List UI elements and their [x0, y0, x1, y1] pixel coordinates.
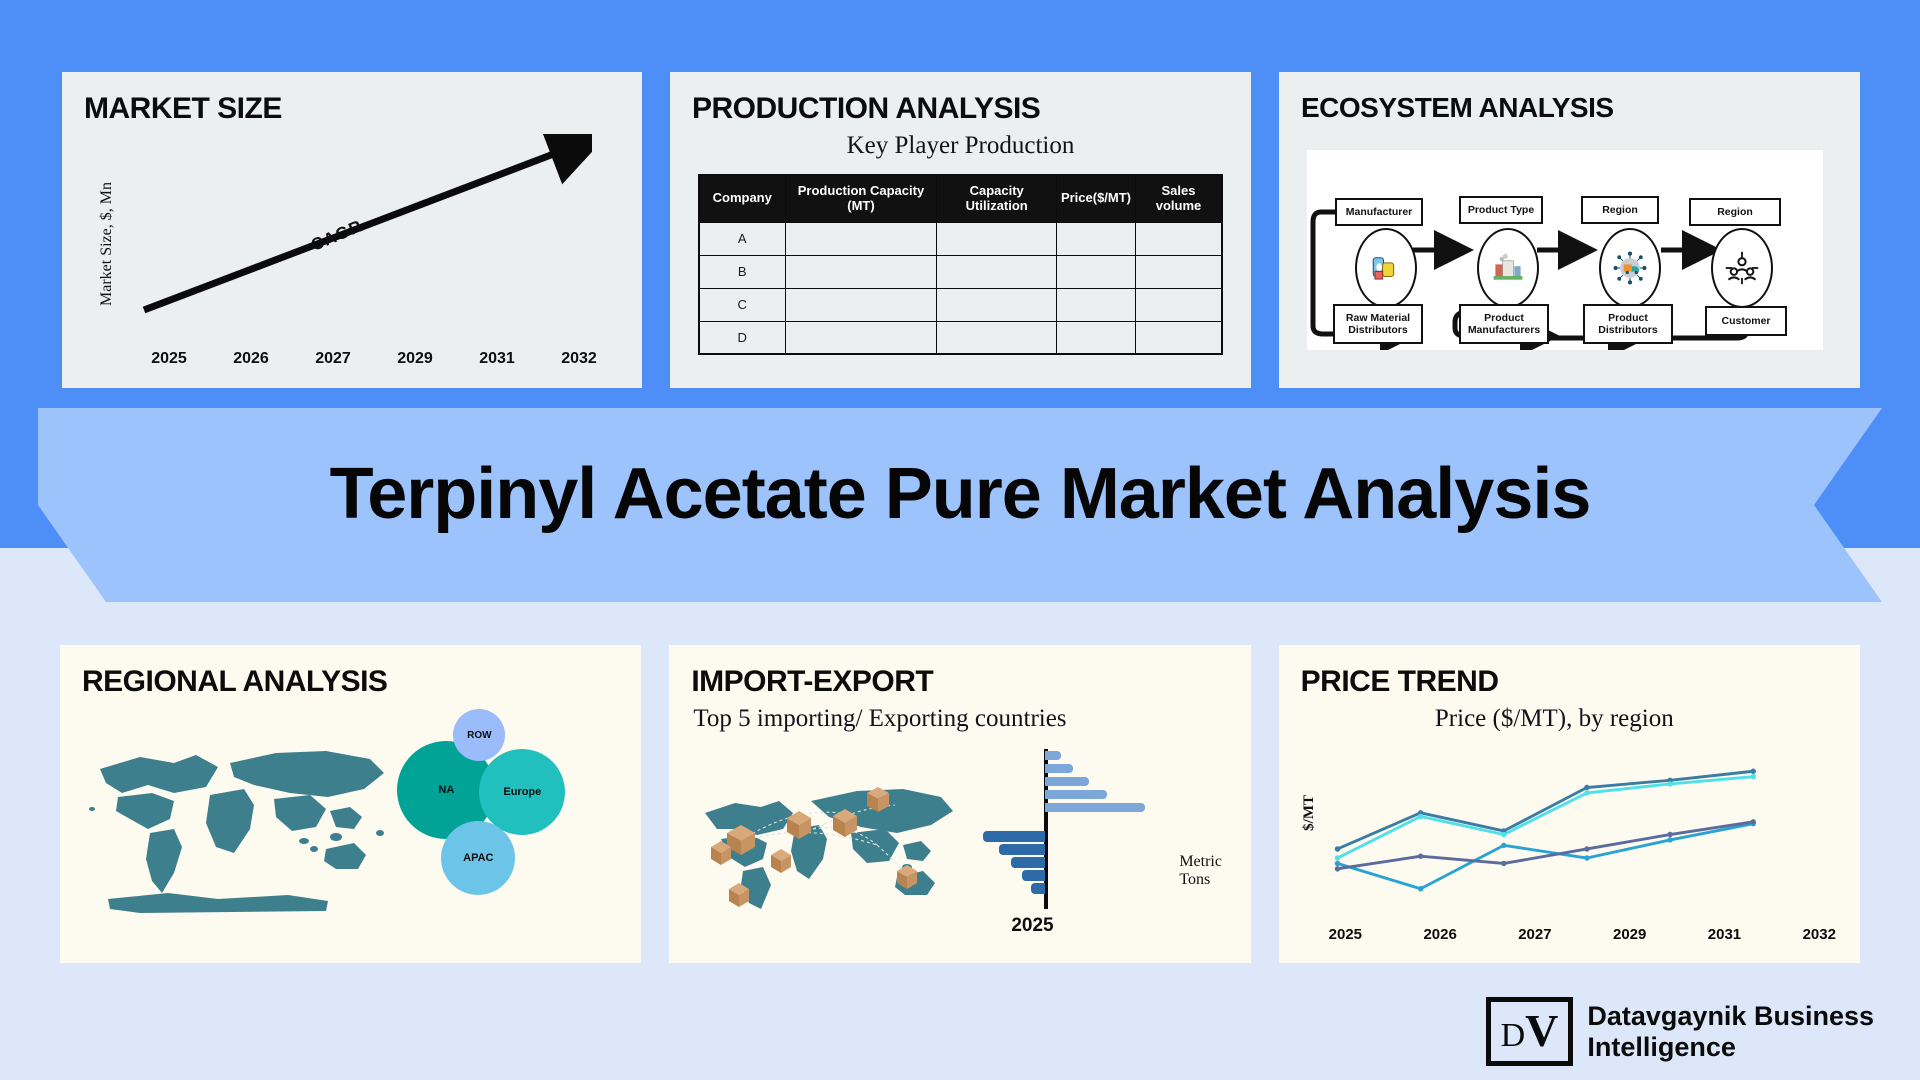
price-trend-lines	[1323, 755, 1793, 905]
x-tick: 2026	[216, 350, 286, 368]
column-header-production-capacity: Production Capacity (MT)	[785, 175, 937, 222]
x-tick: 2025	[1329, 926, 1362, 943]
bubble-row: ROW	[453, 709, 505, 761]
market-size-title: MARKET SIZE	[62, 72, 642, 126]
price-trend-subtitle: Price ($/MT), by region	[1279, 705, 1860, 733]
line-series-4	[1337, 822, 1753, 869]
cell-utilization	[937, 255, 1056, 288]
import-bar-3	[1045, 777, 1089, 786]
x-tick: 2026	[1423, 926, 1456, 943]
logo-letter-v: V	[1525, 1004, 1558, 1057]
top-panel-row: MARKET SIZE Market Size, $, Mn CAGR	[0, 0, 1920, 400]
bubble-apac: APAC	[441, 821, 515, 895]
import-bar-1	[1045, 751, 1061, 760]
tornado-row	[981, 869, 1171, 882]
panel-production-analysis: PRODUCTION ANALYSIS Key Player Productio…	[670, 72, 1251, 388]
cell-capacity	[785, 222, 937, 255]
import-export-title: IMPORT-EXPORT	[669, 645, 1250, 699]
distribution-network-icon	[1599, 228, 1661, 308]
x-tick: 2027	[1518, 926, 1551, 943]
cell-volume	[1136, 321, 1222, 354]
customers-icon	[1711, 228, 1773, 308]
market-size-y-axis-label: Market Size, $, Mn	[98, 182, 116, 306]
export-bar-3	[1011, 857, 1045, 868]
panel-ecosystem-analysis: ECOSYSTEM ANALYSIS Manufacturer Product …	[1279, 72, 1860, 388]
page-title: Terpinyl Acetate Pure Market Analysis	[330, 453, 1591, 535]
table-row: A	[699, 222, 1222, 255]
column-header-sales-volume: Sales volume	[1136, 175, 1222, 222]
price-trend-chart: $/MT 2025 2026 2027 202	[1279, 745, 1860, 945]
cell-capacity	[785, 321, 937, 354]
price-trend-title: PRICE TREND	[1279, 645, 1860, 699]
cell-utilization	[937, 222, 1056, 255]
production-analysis-title: PRODUCTION ANALYSIS	[670, 72, 1251, 126]
x-tick: 2031	[462, 350, 532, 368]
eco-label-manufacturer: Manufacturer	[1335, 198, 1423, 226]
eco-label-region-2: Region	[1689, 198, 1781, 226]
eco-label-product-type: Product Type	[1459, 196, 1543, 224]
market-size-chart: Market Size, $, Mn CAGR 2025	[62, 126, 642, 376]
import-export-tornado-chart: 2025	[981, 749, 1171, 914]
panel-price-trend: PRICE TREND Price ($/MT), by region $/MT	[1279, 645, 1860, 963]
tornado-row	[981, 801, 1171, 814]
barrels-icon	[1355, 228, 1417, 308]
factory-icon	[1477, 228, 1539, 308]
metric-tons-label: Metric Tons	[1179, 853, 1250, 889]
table-row: D	[699, 321, 1222, 354]
import-bar-2	[1045, 764, 1073, 773]
export-bar-5	[1031, 883, 1045, 894]
cell-volume	[1136, 288, 1222, 321]
cell-company: B	[699, 255, 785, 288]
tornado-row	[981, 843, 1171, 856]
cell-capacity	[785, 288, 937, 321]
tornado-row	[981, 830, 1171, 843]
cell-price	[1056, 255, 1135, 288]
production-analysis-subtitle: Key Player Production	[670, 132, 1251, 160]
panel-regional-analysis: REGIONAL ANALYSIS NA Europe	[60, 645, 641, 963]
cell-utilization	[937, 321, 1056, 354]
cell-volume	[1136, 255, 1222, 288]
table-header-row: Company Production Capacity (MT) Capacit…	[699, 175, 1222, 222]
x-tick: 2029	[380, 350, 450, 368]
x-tick: 2029	[1613, 926, 1646, 943]
world-map-icon	[78, 723, 408, 923]
tornado-row	[981, 762, 1171, 775]
cell-utilization	[937, 288, 1056, 321]
table-row: B	[699, 255, 1222, 288]
panel-import-export: IMPORT-EXPORT Top 5 importing/ Exporting…	[669, 645, 1250, 963]
eco-label-raw-material-distributors: Raw Material Distributors	[1333, 304, 1423, 344]
logo-company-name: Datavgaynik Business Intelligence	[1587, 1001, 1874, 1061]
panel-market-size: MARKET SIZE Market Size, $, Mn CAGR	[62, 72, 642, 388]
tornado-row	[981, 775, 1171, 788]
column-header-company: Company	[699, 175, 785, 222]
tornado-year-label: 2025	[1011, 915, 1053, 937]
x-tick: 2031	[1708, 926, 1741, 943]
eco-label-region-1: Region	[1581, 196, 1659, 224]
company-logo: D V Datavgaynik Business Intelligence	[1486, 997, 1874, 1066]
cell-company: A	[699, 222, 785, 255]
bubble-europe: Europe	[479, 749, 565, 835]
logo-name-line-2: Intelligence	[1587, 1032, 1874, 1062]
logo-name-line-1: Datavgaynik Business	[1587, 1001, 1874, 1031]
export-bar-4	[1022, 870, 1045, 881]
cell-volume	[1136, 222, 1222, 255]
ecosystem-flow-diagram: Manufacturer Product Type Region Region	[1307, 150, 1823, 350]
title-banner: Terpinyl Acetate Pure Market Analysis	[38, 408, 1882, 602]
x-tick: 2027	[298, 350, 368, 368]
bottom-panel-row: REGIONAL ANALYSIS NA Europe	[0, 645, 1920, 963]
market-size-x-axis: 2025 2026 2027 2029 2031 2032	[134, 350, 614, 368]
eco-label-customer: Customer	[1705, 306, 1787, 336]
tornado-row	[981, 788, 1171, 801]
import-bar-5	[1045, 803, 1145, 812]
tornado-row	[981, 882, 1171, 895]
price-trend-y-axis-label: $/MT	[1301, 795, 1318, 831]
x-tick: 2032	[1803, 926, 1836, 943]
import-bar-4	[1045, 790, 1107, 799]
ecosystem-analysis-title: ECOSYSTEM ANALYSIS	[1279, 72, 1860, 124]
cell-company: D	[699, 321, 785, 354]
region-bubble-chart: NA Europe APAC ROW	[401, 711, 601, 931]
x-tick: 2025	[134, 350, 204, 368]
logo-letter-d: D	[1501, 1017, 1526, 1055]
cell-price	[1056, 321, 1135, 354]
trade-route-map-icon	[691, 767, 971, 917]
export-bar-2	[999, 844, 1045, 855]
cell-price	[1056, 288, 1135, 321]
cell-company: C	[699, 288, 785, 321]
export-bar-1	[983, 831, 1045, 842]
regional-analysis-title: REGIONAL ANALYSIS	[60, 645, 641, 699]
tornado-row	[981, 749, 1171, 762]
eco-label-product-distributors: Product Distributors	[1583, 304, 1673, 344]
price-trend-x-axis: 2025 2026 2027 2029 2031 2032	[1329, 926, 1836, 943]
tornado-row	[981, 856, 1171, 869]
table-row: C	[699, 288, 1222, 321]
logo-mark-dv: D V	[1486, 997, 1574, 1066]
line-series-2	[1337, 777, 1753, 858]
market-size-bars	[134, 142, 614, 342]
import-export-subtitle: Top 5 importing/ Exporting countries	[669, 705, 1250, 733]
cell-capacity	[785, 255, 937, 288]
key-player-production-table: Company Production Capacity (MT) Capacit…	[698, 174, 1223, 355]
column-header-capacity-utilization: Capacity Utilization	[937, 175, 1056, 222]
x-tick: 2032	[544, 350, 614, 368]
eco-label-product-manufacturers: Product Manufacturers	[1459, 304, 1549, 344]
column-header-price: Price($/MT)	[1056, 175, 1135, 222]
cell-price	[1056, 222, 1135, 255]
